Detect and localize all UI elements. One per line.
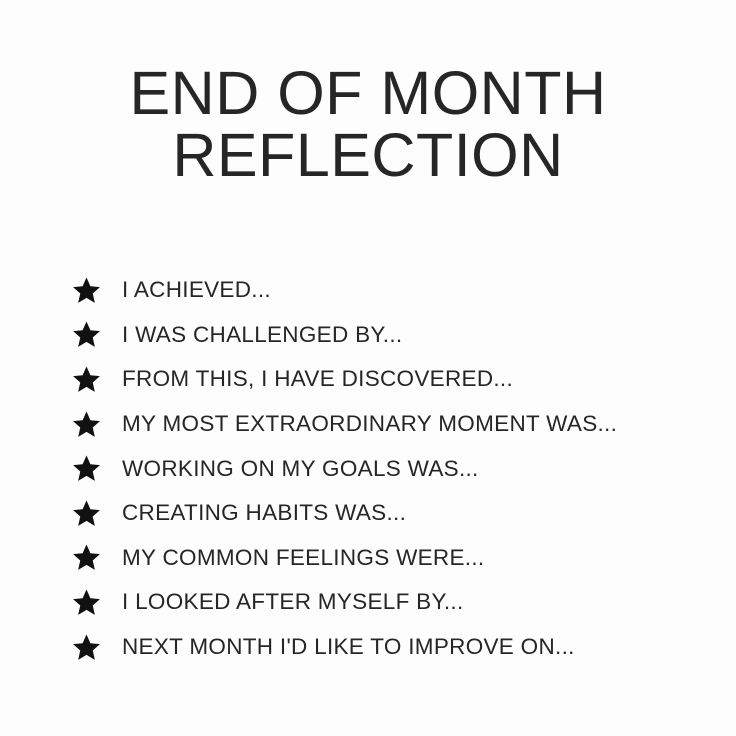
list-item: I WAS CHALLENGED BY... xyxy=(72,313,712,358)
list-item-label: WORKING ON MY GOALS WAS... xyxy=(122,456,479,482)
list-item-label: I LOOKED AFTER MYSELF BY... xyxy=(122,589,464,615)
list-item-label: MY MOST EXTRAORDINARY MOMENT WAS... xyxy=(122,411,617,437)
list-item-label: I WAS CHALLENGED BY... xyxy=(122,322,402,348)
reflection-poster: END OF MONTH REFLECTION I ACHIEVED... I … xyxy=(0,0,736,736)
list-item: WORKING ON MY GOALS WAS... xyxy=(72,446,712,491)
list-item-label: NEXT MONTH I'D LIKE TO IMPROVE ON... xyxy=(122,634,575,660)
list-item: CREATING HABITS WAS... xyxy=(72,491,712,536)
star-icon xyxy=(72,454,101,483)
list-item: I LOOKED AFTER MYSELF BY... xyxy=(72,580,712,625)
list-item: MY COMMON FEELINGS WERE... xyxy=(72,536,712,581)
list-item-label: I ACHIEVED... xyxy=(122,277,271,303)
star-icon xyxy=(72,543,101,572)
list-item-label: MY COMMON FEELINGS WERE... xyxy=(122,545,484,571)
page-title: END OF MONTH REFLECTION xyxy=(0,62,736,186)
list-item: NEXT MONTH I'D LIKE TO IMPROVE ON... xyxy=(72,625,712,670)
star-icon xyxy=(72,588,101,617)
star-icon xyxy=(72,365,101,394)
list-item-label: FROM THIS, I HAVE DISCOVERED... xyxy=(122,366,513,392)
star-icon xyxy=(72,276,101,305)
star-icon xyxy=(72,410,101,439)
star-icon xyxy=(72,633,101,662)
page-title-line-2: REFLECTION xyxy=(0,124,736,186)
page-title-line-1: END OF MONTH xyxy=(0,62,736,124)
list-item: FROM THIS, I HAVE DISCOVERED... xyxy=(72,357,712,402)
list-item-label: CREATING HABITS WAS... xyxy=(122,500,406,526)
star-icon xyxy=(72,320,101,349)
list-item: I ACHIEVED... xyxy=(72,268,712,313)
reflection-checklist: I ACHIEVED... I WAS CHALLENGED BY... FRO… xyxy=(72,268,712,669)
list-item: MY MOST EXTRAORDINARY MOMENT WAS... xyxy=(72,402,712,447)
star-icon xyxy=(72,499,101,528)
